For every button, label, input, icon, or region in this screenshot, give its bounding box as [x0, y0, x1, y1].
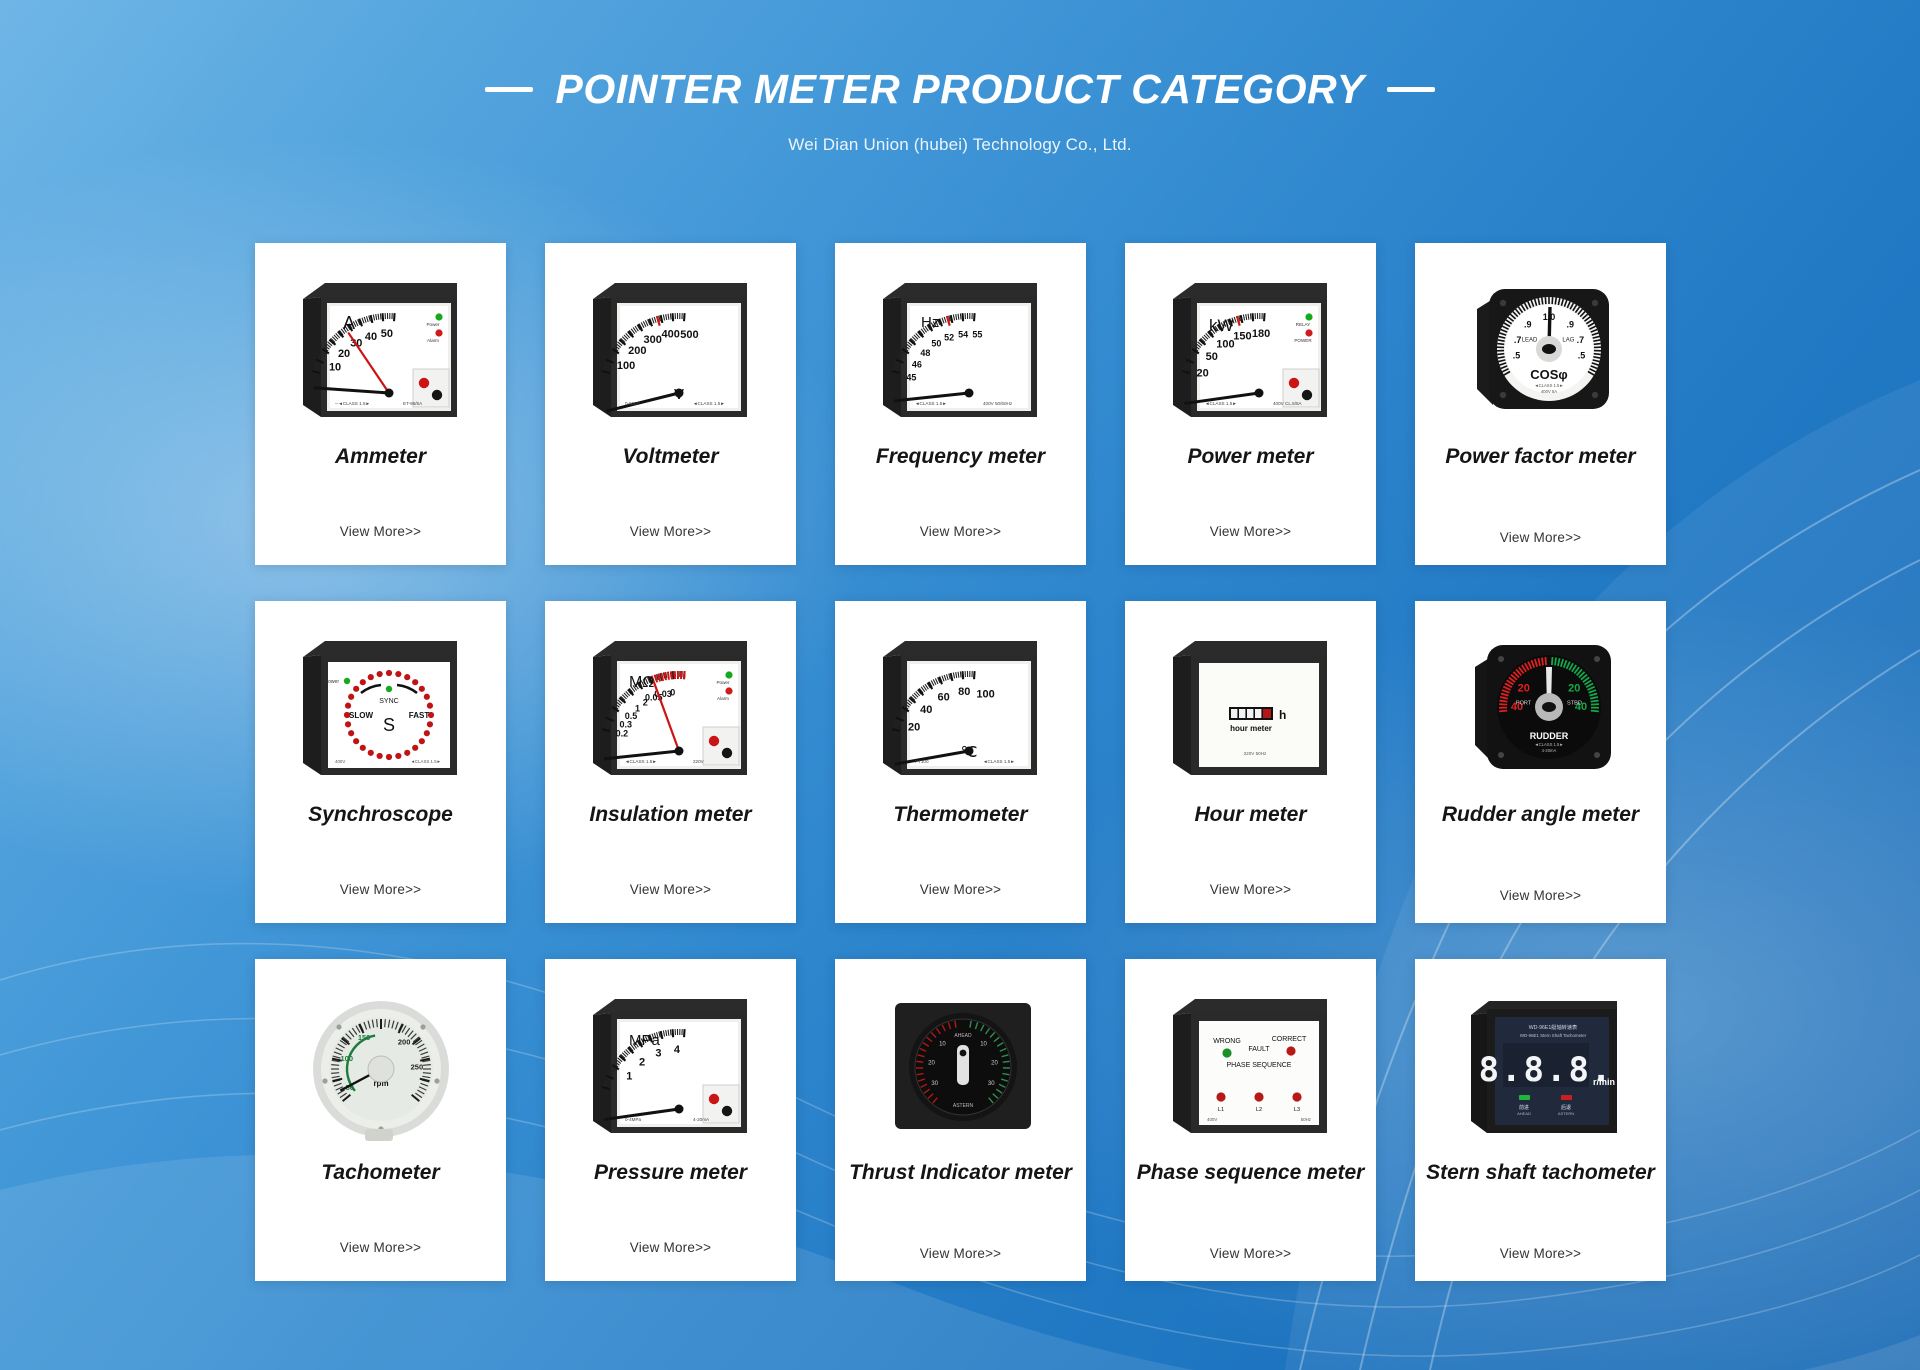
view-more-link-power-meter[interactable]: View More>>	[1210, 524, 1292, 539]
meter-scale-tick: 80	[958, 686, 970, 698]
product-card-rudder-angle-meter[interactable]: 20402040PORTSTBDRUDDER◄CLASS 1.5►4-20mAR…	[1415, 601, 1666, 923]
meter-unit-label: COSφ	[1530, 367, 1567, 382]
meter-side-label: 前进	[1518, 1104, 1528, 1111]
meter-scale-tick: 48	[920, 348, 930, 358]
meter-scale-tick: 52	[944, 332, 954, 342]
meter-scale-tick: 20	[337, 348, 349, 360]
meter-footer-left: 0-4MPa	[625, 1117, 642, 1122]
meter-scale-tick: 1	[635, 704, 640, 714]
product-image-frequency-meter: 45464850525455Hz◄CLASS 1.5►400V 50/60Hz	[853, 259, 1068, 439]
meter-footer-left: 220V 50Hz	[1243, 751, 1266, 756]
meter-side-label: LAG	[1562, 338, 1574, 344]
meter-side-label: FAST	[408, 711, 429, 720]
view-more-link-hour-meter[interactable]: View More>>	[1210, 882, 1292, 897]
meter-footer-right: 4-20mA	[1541, 748, 1556, 753]
product-title-synchroscope: Synchroscope	[300, 803, 461, 827]
meter-unit-label: MPa	[629, 1032, 661, 1049]
meter-side-label-en: AHEAD	[1517, 1111, 1531, 1116]
meter-scale-tick: 250	[410, 1062, 423, 1071]
meter-illustration: 20402040PORTSTBDRUDDER◄CLASS 1.5►4-20mA	[1441, 623, 1641, 791]
meter-footer-right: 220V	[693, 759, 705, 764]
product-title-thermometer: Thermometer	[885, 803, 1035, 827]
meter-scale-tick: 100	[976, 688, 994, 700]
meter-illustration: SYNCSLOWFASTSPower400V◄CLASS 1.5►	[281, 623, 481, 791]
meter-side-label: STBD	[1566, 701, 1581, 707]
meter-side-label: SYNC	[379, 698, 398, 705]
meter-scale-tick: 20	[908, 722, 920, 734]
meter-scale-tick: 45	[906, 372, 916, 382]
view-more-link-stern-shaft-tachometer[interactable]: View More>>	[1500, 1246, 1582, 1261]
product-card-voltmeter[interactable]: 100200300400500VV0-500V◄CLASS 1.5►Voltme…	[545, 243, 796, 565]
meter-footer-left: ◄CLASS 1.5►	[1534, 742, 1563, 747]
meter-scale-tick: 400	[661, 329, 679, 341]
title-dash-right	[1387, 87, 1435, 92]
meter-led-label: RELAY	[1295, 322, 1310, 327]
meter-unit-label: r/min	[1593, 1077, 1615, 1087]
meter-footer-left: ─◄CLASS 1.5►	[334, 401, 370, 406]
product-image-phase-sequence-meter: WRONGCORRECTFAULTPHASE SEQUENCEL1L2L3400…	[1143, 975, 1358, 1155]
product-title-stern-shaft-tachometer: Stern shaft tachometer	[1418, 1161, 1663, 1185]
meter-illustration: 1.0.9.9.7.7.5.5LEADLAGCOSφ◄CLASS 1.5►400…	[1441, 265, 1641, 433]
title-row: POINTER METER PRODUCT CATEGORY	[0, 66, 1920, 113]
meter-scale-tick: 10	[328, 362, 340, 374]
meter-scale-tick: 4	[673, 1044, 680, 1056]
meter-scale-tick: 150	[1233, 330, 1251, 342]
meter-scale-tick: .5	[1577, 351, 1585, 361]
meter-unit-label: Hz	[921, 314, 939, 331]
meter-footer-left: ◄CLASS 1.5►	[915, 401, 947, 406]
product-image-stern-shaft-tachometer: WD-96E1艇轴转速表WD-96E1 Stern Shaft Tachomet…	[1433, 975, 1648, 1155]
meter-side-label: ASTERN	[952, 1103, 973, 1109]
meter-illustration: 2050100150180kWRELAYPOWER◄CLASS 1.5►400V…	[1151, 265, 1351, 433]
meter-scale-tick: 50	[931, 339, 941, 349]
view-more-link-pressure-meter[interactable]: View More>>	[630, 1240, 712, 1255]
meter-led-label: L3	[1293, 1107, 1299, 1113]
meter-scale-tick: 50	[380, 328, 392, 340]
meter-footer-left: PT100	[915, 759, 929, 764]
meter-scale-tick: 40	[364, 331, 376, 343]
meter-scale-tick: 20	[991, 1060, 998, 1066]
product-card-power-factor-meter[interactable]: 1.0.9.9.7.7.5.5LEADLAGCOSφ◄CLASS 1.5►400…	[1415, 243, 1666, 565]
meter-scale-tick: 0.2	[615, 728, 628, 738]
view-more-link-thermometer[interactable]: View More>>	[920, 882, 1002, 897]
meter-scale-tick: 0	[670, 687, 675, 697]
meter-illustration: 20406080100℃℃PT100◄CLASS 1.5►	[861, 623, 1061, 791]
product-card-tachometer[interactable]: 50100150200250min⁻¹rpmTachometerView Mor…	[255, 959, 506, 1281]
product-image-rudder-angle-meter: 20402040PORTSTBDRUDDER◄CLASS 1.5►4-20mA	[1433, 617, 1648, 797]
meter-led-label: L1	[1217, 1107, 1223, 1113]
meter-led-label: Alarm	[427, 338, 439, 343]
product-title-rudder-angle-meter: Rudder angle meter	[1434, 803, 1647, 827]
meter-led-label: POWER	[1294, 338, 1312, 343]
meter-footer-right: 50Hz	[1300, 1117, 1310, 1122]
meter-scale-tick: 180	[1251, 328, 1269, 340]
meter-scale-tick: 100	[340, 1054, 353, 1063]
meter-model-line-2: WD-96E1 Stern Shaft Tachometer	[1519, 1033, 1586, 1038]
meter-led-label: L2	[1255, 1107, 1261, 1113]
meter-unit-label: S	[382, 715, 394, 735]
product-image-hour-meter: hhour meter220V 50Hz	[1143, 617, 1358, 797]
meter-side-label: SLOW	[349, 711, 373, 720]
meter-footer-left: 400V	[335, 759, 345, 764]
meter-led-label: Power	[716, 680, 729, 685]
product-title-ammeter: Ammeter	[327, 445, 434, 469]
meter-illustration: 102030102030AHEADASTERN	[861, 981, 1061, 1149]
meter-footer-left: 400V	[1207, 1117, 1217, 1122]
product-grid: 1020304050APowerAlarm─◄CLASS 1.5►ET-96/5…	[255, 243, 1670, 1281]
product-title-insulation-meter: Insulation meter	[581, 803, 759, 827]
view-more-link-phase-sequence-meter[interactable]: View More>>	[1210, 1246, 1292, 1261]
meter-illustration: 100200300400500VV0-500V◄CLASS 1.5►	[571, 265, 771, 433]
meter-footer-left: 0-500V	[625, 401, 641, 406]
product-title-voltmeter: Voltmeter	[614, 445, 726, 469]
page-title: POINTER METER PRODUCT CATEGORY	[555, 66, 1364, 113]
product-card-pressure-meter[interactable]: 1234MPa0-4MPa4-20mAPressure meterView Mo…	[545, 959, 796, 1281]
meter-side-label-en: ASTERN	[1557, 1111, 1573, 1116]
meter-scale-tick: .7	[1513, 335, 1521, 345]
product-card-power-meter[interactable]: 2050100150180kWRELAYPOWER◄CLASS 1.5►400V…	[1125, 243, 1376, 565]
meter-scale-tick: 30	[931, 1081, 938, 1087]
meter-model-line-1: WD-96E1艇轴转速表	[1528, 1023, 1577, 1031]
meter-unit-label: h	[1279, 708, 1286, 722]
meter-illustration: 1020304050APowerAlarm─◄CLASS 1.5►ET-96/5…	[281, 265, 481, 433]
meter-illustration: 0.20.30.5120.050.030MΩPowerAlarm◄CLASS 1…	[571, 623, 771, 791]
product-card-synchroscope[interactable]: SYNCSLOWFASTSPower400V◄CLASS 1.5►Synchro…	[255, 601, 506, 923]
view-more-link-synchroscope[interactable]: View More>>	[340, 882, 422, 897]
meter-illustration: 50100150200250min⁻¹rpm	[281, 981, 481, 1149]
meter-footer-left: ◄CLASS 1.5►	[625, 759, 657, 764]
meter-scale-tick: 200	[628, 345, 646, 357]
product-image-ammeter: 1020304050APowerAlarm─◄CLASS 1.5►ET-96/5…	[273, 259, 488, 439]
meter-scale-tick: .9	[1524, 320, 1532, 330]
product-card-thermometer[interactable]: 20406080100℃℃PT100◄CLASS 1.5►Thermometer…	[835, 601, 1086, 923]
product-image-power-factor-meter: 1.0.9.9.7.7.5.5LEADLAGCOSφ◄CLASS 1.5►400…	[1433, 259, 1648, 439]
meter-scale-tick: 100	[616, 360, 634, 372]
meter-side-label: 后退	[1560, 1104, 1570, 1111]
meter-unit-label: A	[343, 313, 355, 333]
meter-scale-tick: 500	[680, 329, 698, 341]
product-image-insulation-meter: 0.20.30.5120.050.030MΩPowerAlarm◄CLASS 1…	[563, 617, 778, 797]
meter-scale-tick: 20	[928, 1060, 935, 1066]
product-card-thrust-indicator-meter[interactable]: 102030102030AHEADASTERNThrust Indicator …	[835, 959, 1086, 1281]
meter-scale-tick: 2	[638, 1057, 644, 1069]
product-title-power-meter: Power meter	[1179, 445, 1321, 469]
meter-illustration: hhour meter220V 50Hz	[1151, 623, 1351, 791]
meter-scale-tick: 300	[643, 334, 661, 346]
product-image-synchroscope: SYNCSLOWFASTSPower400V◄CLASS 1.5►	[273, 617, 488, 797]
meter-illustration: 45464850525455Hz◄CLASS 1.5►400V 50/60Hz	[861, 265, 1061, 433]
meter-unit-label: MΩ	[629, 674, 654, 691]
meter-footer-left: ◄CLASS 1.5►	[1205, 401, 1237, 406]
meter-scale-tick: .7	[1576, 335, 1584, 345]
product-image-tachometer: 50100150200250min⁻¹rpm	[273, 975, 488, 1155]
meter-scale-tick: 54	[958, 329, 968, 339]
product-title-hour-meter: Hour meter	[1186, 803, 1314, 827]
meter-scale-tick: 1	[626, 1070, 632, 1082]
product-image-power-meter: 2050100150180kWRELAYPOWER◄CLASS 1.5►400V…	[1143, 259, 1358, 439]
meter-footer-right: 4-20mA	[693, 1117, 710, 1122]
product-card-ammeter[interactable]: 1020304050APowerAlarm─◄CLASS 1.5►ET-96/5…	[255, 243, 506, 565]
meter-footer-left: ◄CLASS 1.5►	[1534, 383, 1563, 388]
meter-scale-tick: 200	[397, 1037, 410, 1046]
meter-scale-tick: 20	[1196, 367, 1208, 379]
meter-footer-right: 400V CL.5/5A	[1273, 401, 1303, 406]
view-more-link-ammeter[interactable]: View More>>	[340, 524, 422, 539]
meter-illustration: 1234MPa0-4MPa4-20mA	[571, 981, 771, 1149]
meter-unit-label: kW	[1209, 316, 1234, 335]
meter-scale-tick: .9	[1566, 320, 1574, 330]
title-dash-left	[485, 87, 533, 92]
meter-side-label: PORT	[1515, 701, 1531, 707]
meter-side-label: AHEAD	[954, 1033, 972, 1039]
product-image-thrust-indicator-meter: 102030102030AHEADASTERN	[853, 975, 1068, 1155]
meter-scale-tick: 150	[357, 1033, 370, 1042]
product-image-thermometer: 20406080100℃℃PT100◄CLASS 1.5►	[853, 617, 1068, 797]
product-title-frequency-meter: Frequency meter	[868, 445, 1053, 469]
meter-scale-tick: 46	[911, 359, 921, 369]
meter-scale-tick: .5	[1512, 351, 1520, 361]
view-more-link-power-factor-meter[interactable]: View More>>	[1500, 530, 1582, 545]
product-image-pressure-meter: 1234MPa0-4MPa4-20mA	[563, 975, 778, 1155]
product-card-hour-meter[interactable]: hhour meter220V 50HzHour meterView More>…	[1125, 601, 1376, 923]
meter-scale-tick: 20	[1517, 682, 1529, 694]
view-more-link-rudder-angle-meter[interactable]: View More>>	[1500, 888, 1582, 903]
meter-unit-label: PHASE SEQUENCE	[1226, 1062, 1291, 1069]
meter-scale-tick: 60	[937, 692, 949, 704]
view-more-link-frequency-meter[interactable]: View More>>	[920, 524, 1002, 539]
meter-illustration: WD-96E1艇轴转速表WD-96E1 Stern Shaft Tachomet…	[1441, 981, 1641, 1149]
meter-led-label: Power	[426, 322, 439, 327]
meter-scale-tick: 10	[980, 1041, 987, 1047]
meter-scale-tick: 55	[972, 330, 982, 340]
meter-side-label: WRONG	[1213, 1038, 1241, 1045]
meter-scale-tick: 20	[1568, 682, 1580, 694]
meter-footer-right: 400V 5A	[1540, 389, 1556, 394]
meter-display-label: hour meter	[1230, 724, 1272, 733]
product-title-phase-sequence-meter: Phase sequence meter	[1129, 1161, 1373, 1185]
meter-scale-tick: 10	[939, 1041, 946, 1047]
meter-footer-right: 400V 50/60Hz	[983, 401, 1013, 406]
product-card-phase-sequence-meter[interactable]: WRONGCORRECTFAULTPHASE SEQUENCEL1L2L3400…	[1125, 959, 1376, 1281]
page-header: POINTER METER PRODUCT CATEGORY Wei Dian …	[0, 0, 1920, 155]
view-more-link-voltmeter[interactable]: View More>>	[630, 524, 712, 539]
view-more-link-insulation-meter[interactable]: View More>>	[630, 882, 712, 897]
meter-side-label: LEAD	[1521, 338, 1537, 344]
view-more-link-thrust-indicator-meter[interactable]: View More>>	[920, 1246, 1002, 1261]
product-title-tachometer: Tachometer	[313, 1161, 447, 1185]
meter-footer-right: ET-96/5A	[403, 401, 423, 406]
meter-footer-right: ◄CLASS 1.5►	[410, 759, 440, 764]
product-title-power-factor-meter: Power factor meter	[1437, 445, 1643, 469]
meter-scale-tick: 100	[1216, 338, 1234, 350]
meter-led-label: Power	[324, 679, 339, 685]
company-subtitle: Wei Dian Union (hubei) Technology Co., L…	[0, 135, 1920, 155]
product-image-voltmeter: 100200300400500VV0-500V◄CLASS 1.5►	[563, 259, 778, 439]
meter-led-label: Alarm	[717, 696, 729, 701]
meter-scale-tick: 3	[655, 1048, 661, 1060]
product-title-thrust-indicator-meter: Thrust Indicator meter	[841, 1161, 1080, 1185]
product-card-frequency-meter[interactable]: 45464850525455Hz◄CLASS 1.5►400V 50/60HzF…	[835, 243, 1086, 565]
meter-footer-right: ◄CLASS 1.5►	[693, 401, 725, 406]
product-card-insulation-meter[interactable]: 0.20.30.5120.050.030MΩPowerAlarm◄CLASS 1…	[545, 601, 796, 923]
meter-illustration: WRONGCORRECTFAULTPHASE SEQUENCEL1L2L3400…	[1151, 981, 1351, 1149]
meter-side-label: CORRECT	[1271, 1036, 1306, 1043]
meter-unit-label: RUDDER	[1529, 731, 1568, 741]
meter-scale-tick: 30	[987, 1081, 994, 1087]
view-more-link-tachometer[interactable]: View More>>	[340, 1240, 422, 1255]
meter-scale-tick: 40	[920, 704, 932, 716]
product-card-stern-shaft-tachometer[interactable]: WD-96E1艇轴转速表WD-96E1 Stern Shaft Tachomet…	[1415, 959, 1666, 1281]
meter-scale-tick: 50	[1205, 351, 1217, 363]
product-title-pressure-meter: Pressure meter	[586, 1161, 755, 1185]
meter-footer-right: ◄CLASS 1.5►	[983, 759, 1015, 764]
meter-side-label: FAULT	[1248, 1046, 1270, 1053]
